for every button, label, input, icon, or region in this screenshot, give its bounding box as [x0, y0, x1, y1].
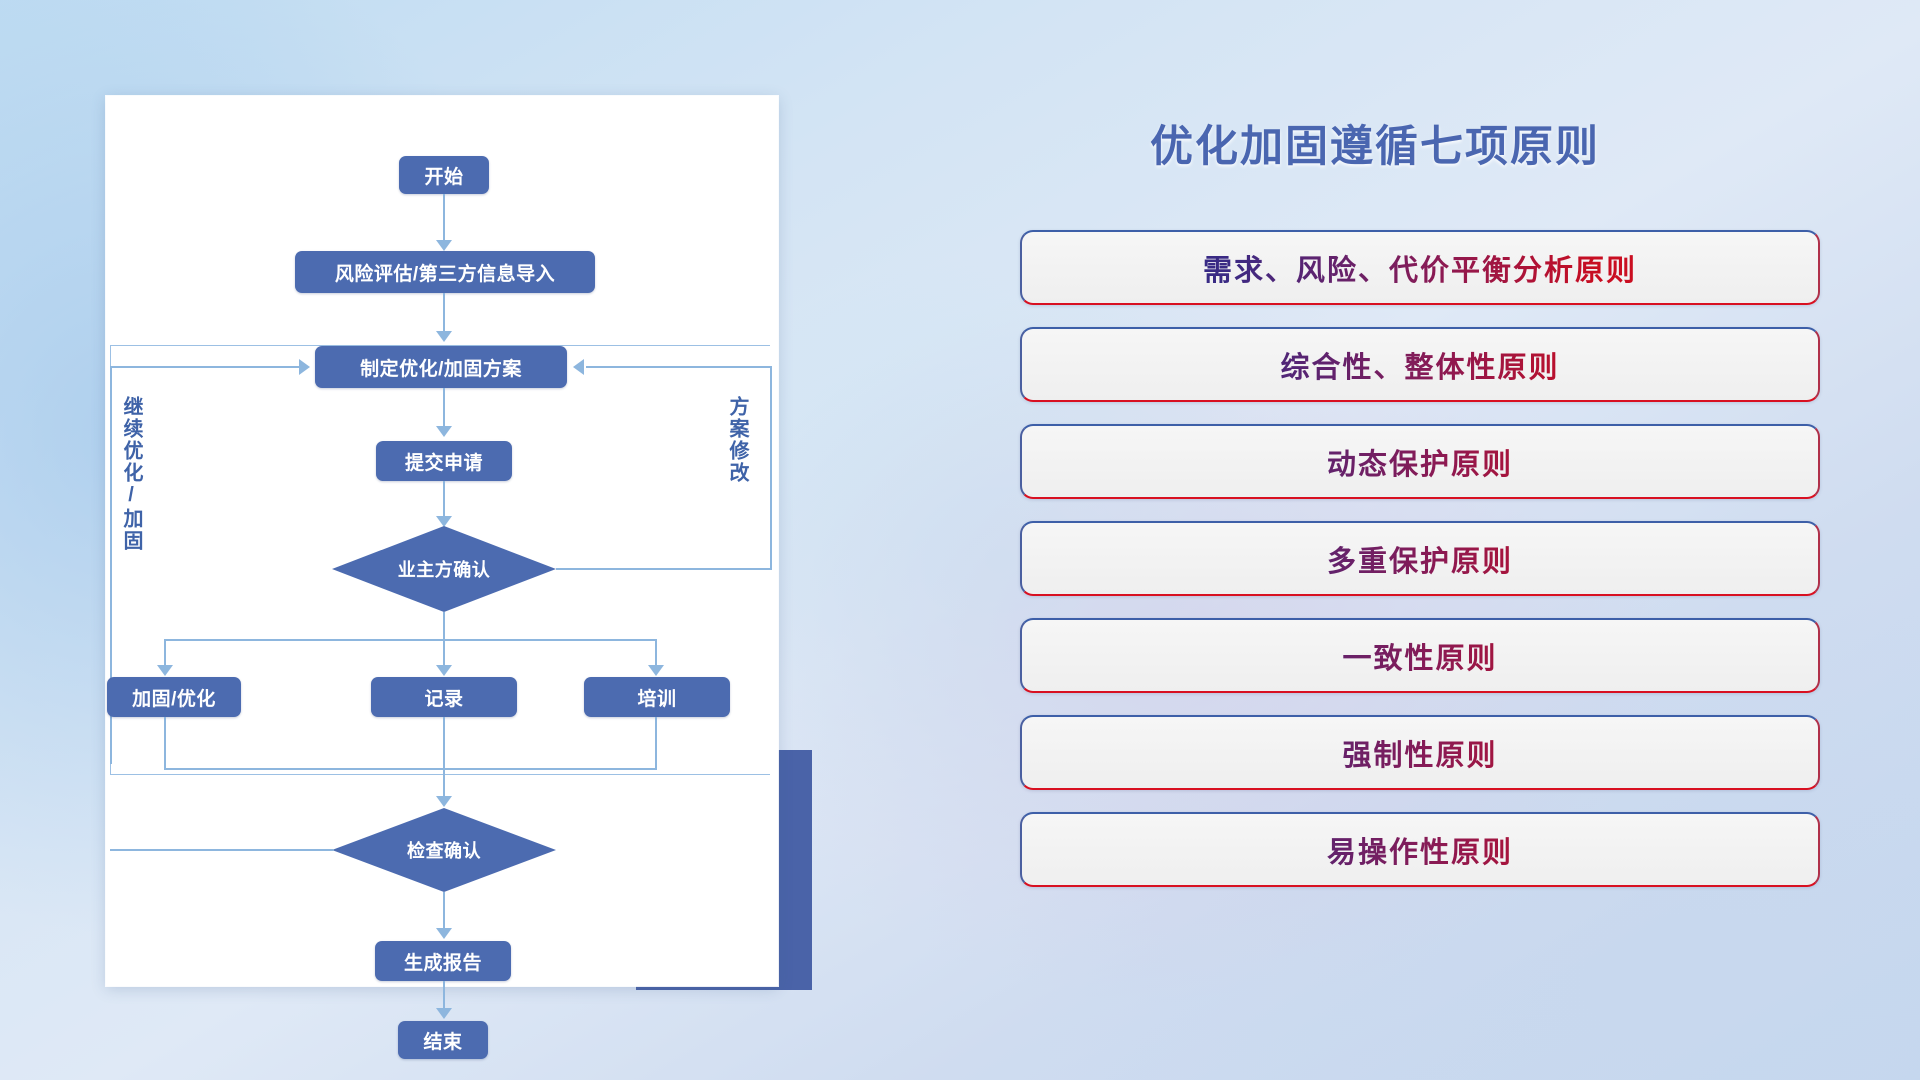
arrow-to-record — [436, 665, 452, 676]
arrow-start-to-risk — [436, 240, 452, 251]
connector-owner-to-right-loop — [556, 568, 772, 570]
principle-item-label: 综合性、整体性原则 — [1020, 327, 1820, 402]
node-start-label: 开始 — [424, 162, 463, 189]
connector-start-to-risk — [443, 194, 445, 246]
flowchart: 开始 风险评估/第三方信息导入 制定优化/加固方案 提交申请 — [106, 96, 778, 986]
node-end[interactable]: 结束 — [398, 1021, 488, 1059]
arrow-risk-to-plan — [436, 331, 452, 342]
arrow-report-to-end — [436, 1008, 452, 1019]
panel-title: 优化加固遵循七项原则 — [1150, 112, 1600, 174]
node-owner-confirm-label: 业主方确认 — [398, 556, 491, 582]
node-submit-application[interactable]: 提交申请 — [376, 441, 512, 481]
principles-list: 需求、风险、代价平衡分析原则 综合性、整体性原则 动态保护原则 多重保护原则 一… — [1020, 230, 1820, 909]
node-make-plan[interactable]: 制定优化/加固方案 — [315, 346, 567, 388]
principle-item-label: 动态保护原则 — [1020, 424, 1820, 499]
node-training[interactable]: 培训 — [584, 677, 730, 717]
arrow-to-check — [436, 796, 452, 807]
connector-merge-bar — [164, 768, 657, 770]
arrow-right-loop-in — [573, 359, 584, 375]
node-generate-report-label: 生成报告 — [404, 948, 482, 975]
node-make-plan-label: 制定优化/加固方案 — [360, 354, 522, 381]
connector-record-down — [443, 717, 445, 770]
node-training-label: 培训 — [637, 684, 676, 711]
principle-item[interactable]: 动态保护原则 — [1020, 424, 1820, 499]
arrow-plan-to-submit — [436, 426, 452, 437]
node-start[interactable]: 开始 — [399, 156, 489, 194]
arrow-to-reinforce — [157, 665, 173, 676]
connector-training-down — [655, 717, 657, 770]
principle-item[interactable]: 一致性原则 — [1020, 618, 1820, 693]
connector-left-loop-in — [110, 366, 302, 368]
principle-item-label: 需求、风险、代价平衡分析原则 — [1020, 230, 1820, 305]
principles-panel: 优化加固遵循七项原则 需求、风险、代价平衡分析原则 综合性、整体性原则 动态保护… — [1020, 96, 1840, 996]
principle-item[interactable]: 需求、风险、代价平衡分析原则 — [1020, 230, 1820, 305]
node-generate-report[interactable]: 生成报告 — [375, 941, 511, 981]
principle-item[interactable]: 强制性原则 — [1020, 715, 1820, 790]
node-check-confirm-label: 检查确认 — [407, 837, 481, 863]
node-owner-confirm[interactable]: 业主方确认 — [332, 526, 556, 612]
connector-split-bar — [164, 639, 657, 641]
node-check-confirm[interactable]: 检查确认 — [332, 808, 556, 892]
connector-reinforce-down — [164, 717, 166, 770]
node-risk-assessment-label: 风险评估/第三方信息导入 — [335, 259, 555, 286]
arrow-to-training — [648, 665, 664, 676]
principle-item-label: 一致性原则 — [1020, 618, 1820, 693]
node-reinforce-optimize-label: 加固/优化 — [132, 684, 216, 711]
label-continue-optimize: 继续优化/加固 — [120, 396, 141, 556]
node-record-label: 记录 — [424, 684, 463, 711]
node-submit-application-label: 提交申请 — [405, 448, 483, 475]
slide-stage: 开始 风险评估/第三方信息导入 制定优化/加固方案 提交申请 — [0, 0, 1920, 1080]
principle-item-label: 多重保护原则 — [1020, 521, 1820, 596]
node-end-label: 结束 — [423, 1027, 462, 1054]
principle-item[interactable]: 易操作性原则 — [1020, 812, 1820, 887]
principle-item[interactable]: 综合性、整体性原则 — [1020, 327, 1820, 402]
arrow-check-to-report — [436, 928, 452, 939]
connector-check-to-left-loop — [110, 849, 334, 851]
label-plan-revision: 方案修改 — [726, 396, 747, 516]
principle-item[interactable]: 多重保护原则 — [1020, 521, 1820, 596]
connector-owner-down — [443, 612, 445, 640]
connector-right-loop-in — [586, 366, 772, 368]
principle-item-label: 强制性原则 — [1020, 715, 1820, 790]
connector-right-loop-vertical — [770, 366, 772, 570]
node-reinforce-optimize[interactable]: 加固/优化 — [107, 677, 241, 717]
arrow-left-loop-in — [299, 359, 310, 375]
node-risk-assessment[interactable]: 风险评估/第三方信息导入 — [295, 251, 595, 293]
principle-item-label: 易操作性原则 — [1020, 812, 1820, 887]
node-record[interactable]: 记录 — [371, 677, 517, 717]
